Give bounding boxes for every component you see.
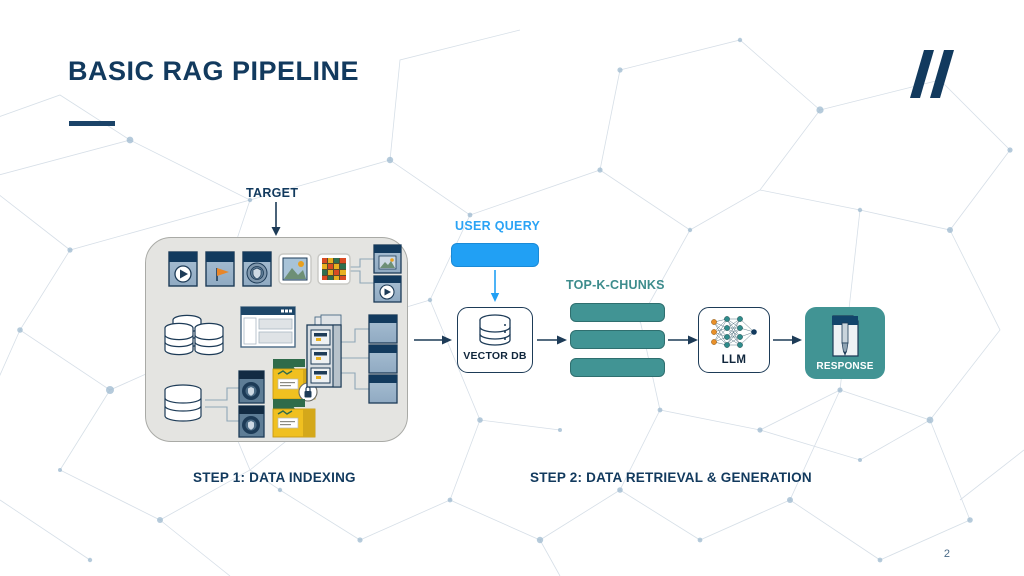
vector-db-node[interactable]: VECTOR DB	[457, 307, 533, 373]
llm-label: LLM	[722, 354, 747, 366]
database-stack-icon	[165, 315, 223, 354]
flag-file-icon	[206, 252, 234, 286]
title-underline-rule	[69, 121, 115, 126]
document-box-icon	[369, 375, 397, 403]
arrow-llm-to-response	[773, 333, 803, 347]
topk-chunks-label: TOP-K-CHUNKS	[566, 278, 665, 292]
page-number: 2	[944, 548, 950, 560]
page-title: BASIC RAG PIPELINE	[68, 56, 359, 87]
chunk-bar[interactable]	[570, 358, 665, 377]
response-document-pen-icon	[825, 312, 865, 360]
image-output-icon	[374, 245, 401, 273]
data-source-icons-group	[145, 237, 408, 442]
arrow-chunks-to-llm	[668, 333, 700, 347]
database-icon	[165, 385, 201, 421]
secure-doc-icon	[239, 371, 264, 403]
browser-window-icon	[241, 307, 295, 347]
video-file-icon	[169, 252, 197, 286]
target-arrow-down	[268, 202, 284, 238]
neural-network-icon	[707, 314, 761, 350]
document-box-icon	[369, 315, 397, 343]
heatmap-grid-icon	[318, 254, 350, 284]
arrow-vectordb-to-chunks	[537, 333, 569, 347]
response-label: RESPONSE	[816, 361, 873, 372]
document-box-icon	[369, 345, 397, 373]
shield-file-icon	[243, 252, 271, 286]
image-thumbnail-icon	[279, 254, 311, 284]
arrow-query-to-vectordb	[488, 270, 502, 304]
database-cylinder-icon	[477, 314, 513, 348]
chunk-bar[interactable]	[570, 303, 665, 322]
slide-canvas: BASIC RAG PIPELINE TARGET	[0, 0, 1024, 576]
chunk-bar[interactable]	[570, 330, 665, 349]
step-2-label: STEP 2: DATA RETRIEVAL & GENERATION	[530, 470, 812, 485]
step-1-label: STEP 1: DATA INDEXING	[193, 470, 356, 485]
user-query-label: USER QUERY	[455, 219, 540, 233]
secure-doc-icon	[239, 406, 264, 437]
target-label: TARGET	[246, 186, 298, 200]
folder-icon	[273, 399, 315, 437]
user-query-input[interactable]	[451, 243, 539, 267]
company-logo	[908, 48, 962, 100]
video-output-icon	[374, 276, 401, 302]
response-node[interactable]: RESPONSE	[805, 307, 885, 379]
file-cabinet-icon	[307, 315, 341, 387]
vector-db-label: VECTOR DB	[463, 350, 526, 362]
arrow-panel-to-vectordb	[414, 333, 454, 347]
llm-node[interactable]: LLM	[698, 307, 770, 373]
